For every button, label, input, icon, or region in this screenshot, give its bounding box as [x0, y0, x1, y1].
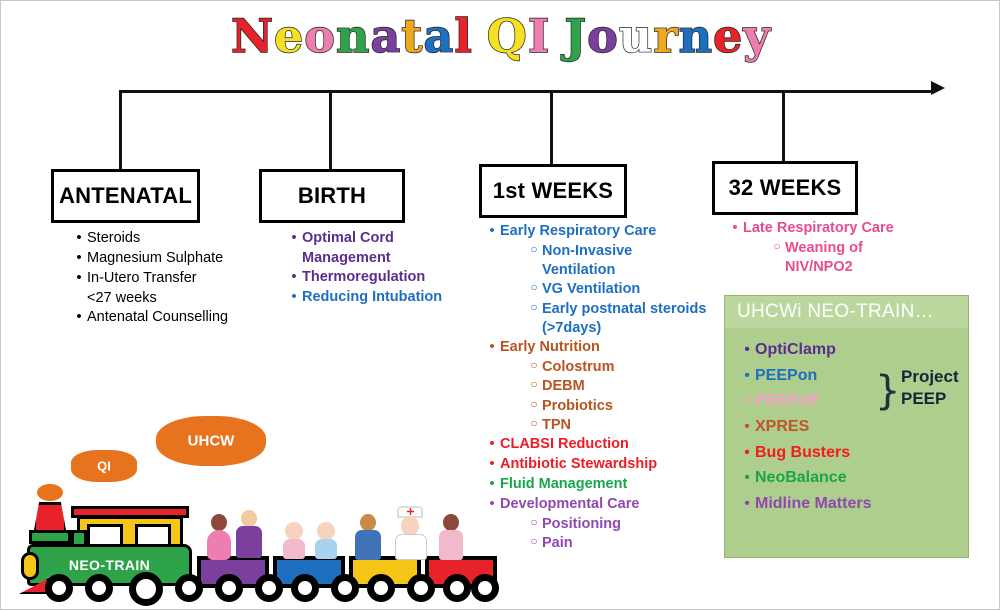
stage-label-first-weeks: 1st WEEKS: [493, 178, 613, 204]
list-item: ○Weaning of: [769, 239, 967, 257]
wheel-9: [367, 574, 395, 602]
list-item: •Fluid Management: [484, 475, 724, 494]
title-letter-17: e: [713, 9, 743, 63]
project-item[interactable]: •OptiClamp: [739, 340, 968, 360]
stage-box-32-weeks[interactable]: 32 WEEKS: [712, 161, 858, 215]
project-label: Bug Busters: [755, 443, 968, 463]
list-item: •Early Respiratory Care: [484, 222, 724, 241]
list-item: •In-Utero Transfer: [71, 269, 301, 288]
title-letter-18: y: [743, 9, 771, 63]
wheel-5: [215, 574, 243, 602]
smoke-puff-small: [37, 484, 63, 501]
smoke-label-qi: QI: [71, 459, 137, 474]
timeline-connector-32-weeks: [782, 90, 785, 161]
hollow-bullet-icon: ○: [526, 358, 542, 373]
timeline-connector-first-weeks: [550, 90, 553, 165]
project-peep-line2: PEEP: [901, 388, 959, 410]
project-peep-label: Project PEEP: [901, 366, 959, 410]
list-item-label: Pain: [542, 534, 724, 552]
list-item-label: Non-Invasive: [542, 242, 724, 260]
list-item: •Magnesium Sulphate: [71, 249, 301, 268]
bullet-icon: •: [739, 391, 755, 411]
stage-box-antenatal[interactable]: ANTENATAL: [51, 169, 200, 223]
list-item: Management: [286, 249, 471, 267]
hollow-bullet-icon: ○: [526, 534, 542, 549]
list-item-label: Weaning of: [785, 239, 967, 257]
list-item: ○Early postnatal steroids: [526, 300, 724, 318]
list-item-label: Fluid Management: [500, 475, 724, 493]
wheel-3: [129, 572, 163, 606]
passenger-nurse: [393, 506, 427, 558]
list-item: (>7days): [526, 319, 724, 337]
list-item-label: NIV/NPO2: [785, 258, 967, 276]
hollow-bullet-icon: ○: [526, 242, 542, 257]
bullet-icon: •: [739, 494, 755, 514]
passenger-baby-2: [313, 522, 339, 558]
title-letter-9: Q: [487, 9, 528, 63]
project-label: XPRES: [755, 417, 968, 437]
list-item-label: In-Utero Transfer: [87, 269, 301, 287]
list-item-label: Colostrum: [542, 358, 724, 376]
list-item: •CLABSI Reduction: [484, 435, 724, 454]
wheel-6: [255, 574, 283, 602]
title-letter-1: e: [274, 9, 304, 63]
list-item: •Antenatal Counselling: [71, 308, 301, 327]
list-item: •Early Nutrition: [484, 338, 724, 357]
list-item: •Antibiotic Stewardship: [484, 455, 724, 474]
wheel-1: [45, 574, 73, 602]
title-letter-5: t: [401, 9, 423, 63]
timeline-connector-antenatal: [119, 90, 122, 170]
list-item-label: (>7days): [542, 319, 724, 337]
list-item: ○TPN: [526, 416, 724, 434]
passenger-parent-with-baby: [353, 514, 383, 558]
list-item: •Optimal Cord: [286, 229, 471, 248]
page-title: Neonatal QI Journey: [1, 9, 1000, 63]
list-item-label: DEBM: [542, 377, 724, 395]
smoke-label-uhcw: UHCW: [156, 433, 266, 450]
title-letter-4: a: [370, 9, 401, 63]
wheel-11: [443, 574, 471, 602]
list-item-label: Developmental Care: [500, 495, 724, 513]
bullet-icon: •: [739, 443, 755, 463]
list-item-label: Early Respiratory Care: [500, 222, 724, 240]
title-letter-15: r: [653, 9, 678, 63]
project-item[interactable]: •NeoBalance: [739, 468, 968, 488]
neo-train-panel-title: UHCWi NEO-TRAIN…: [737, 301, 934, 323]
list-item: •Steroids: [71, 229, 301, 248]
list-item-label: Antibiotic Stewardship: [500, 455, 724, 473]
timeline-horizontal-line: [119, 90, 934, 93]
list-item: ○Non-Invasive: [526, 242, 724, 260]
infographic-canvas: Neonatal QI Journey ANTENATAL BIRTH 1st …: [0, 0, 1000, 610]
bullet-icon: •: [71, 308, 87, 327]
project-item[interactable]: •XPRES: [739, 417, 968, 437]
list-item: Ventilation: [526, 261, 724, 279]
list-item: ○Pain: [526, 534, 724, 552]
stage-label-birth: BIRTH: [298, 183, 366, 209]
neo-train-panel-header: UHCWi NEO-TRAIN…: [725, 296, 968, 328]
smoke-cloud-qi: QI: [71, 450, 137, 482]
list-item: ○Positioning: [526, 515, 724, 533]
stage-label-32-weeks: 32 WEEKS: [729, 175, 842, 201]
list-item-label: VG Ventilation: [542, 280, 724, 298]
wheel-10: [407, 574, 435, 602]
list-item: •Thermoregulation: [286, 268, 471, 287]
list-item-label: Optimal Cord: [302, 229, 471, 247]
list-item-label: <27 weeks: [87, 289, 301, 307]
wheel-12: [471, 574, 499, 602]
project-peep-line1: Project: [901, 366, 959, 388]
engine-chimney-base: [29, 530, 71, 544]
list-item-label: Positioning: [542, 515, 724, 533]
hollow-bullet-icon: ○: [526, 397, 542, 412]
title-letter-8: [473, 9, 487, 63]
title-letter-13: o: [587, 9, 619, 63]
timeline-arrow-icon: [931, 81, 945, 95]
stage-box-birth[interactable]: BIRTH: [259, 169, 405, 223]
list-item-label: Magnesium Sulphate: [87, 249, 301, 267]
neo-train-projects-panel: UHCWi NEO-TRAIN… •OptiClamp•PEEPon•PEEPo…: [724, 295, 969, 558]
title-letter-12: J: [564, 9, 587, 63]
hollow-bullet-icon: ○: [526, 377, 542, 392]
list-item: ○DEBM: [526, 377, 724, 395]
list-item: ○Probiotics: [526, 397, 724, 415]
engine-label: NEO-TRAIN: [69, 557, 150, 573]
wheel-2: [85, 574, 113, 602]
list-item-label: Thermoregulation: [302, 268, 471, 286]
list-32-weeks: •Late Respiratory Care○Weaning ofNIV/NPO…: [727, 219, 967, 277]
wheel-7: [291, 574, 319, 602]
project-label: OptiClamp: [755, 340, 968, 360]
bullet-icon: •: [739, 340, 755, 360]
list-item-label: Late Respiratory Care: [743, 219, 967, 237]
list-item-label: Probiotics: [542, 397, 724, 415]
bullet-icon: •: [286, 288, 302, 307]
hollow-bullet-icon: ○: [526, 300, 542, 315]
bullet-icon: •: [71, 249, 87, 268]
title-letter-0: N: [231, 9, 274, 63]
list-item-label: CLABSI Reduction: [500, 435, 724, 453]
passenger-baby-1: [281, 522, 307, 558]
list-birth: •Optimal CordManagement•Thermoregulation…: [286, 229, 471, 308]
title-letter-3: n: [336, 9, 370, 63]
list-item: <27 weeks: [71, 289, 301, 307]
title-letter-6: a: [424, 9, 455, 63]
smoke-cloud-uhcw: UHCW: [156, 416, 266, 466]
bullet-icon: •: [484, 338, 500, 357]
list-item-label: Reducing Intubation: [302, 288, 471, 306]
list-item: •Developmental Care: [484, 495, 724, 514]
hollow-bullet-icon: ○: [526, 515, 542, 530]
title-letter-2: o: [304, 9, 336, 63]
list-first-weeks: •Early Respiratory Care○Non-InvasiveVent…: [484, 222, 724, 553]
project-label: Midline Matters: [755, 494, 968, 514]
timeline-connector-birth: [329, 90, 332, 170]
list-item-label: TPN: [542, 416, 724, 434]
stage-box-first-weeks[interactable]: 1st WEEKS: [479, 164, 627, 218]
bullet-icon: •: [739, 468, 755, 488]
bullet-icon: •: [71, 269, 87, 288]
title-letter-16: n: [679, 9, 713, 63]
title-letter-7: l: [454, 9, 472, 63]
list-item: ○VG Ventilation: [526, 280, 724, 298]
hollow-bullet-icon: ○: [769, 239, 785, 254]
bullet-icon: •: [739, 366, 755, 386]
engine-headlamp: [21, 552, 39, 580]
title-letter-10: I: [528, 9, 551, 63]
list-item: •Late Respiratory Care: [727, 219, 967, 238]
brace-icon: }: [875, 369, 897, 413]
project-item[interactable]: •Bug Busters: [739, 443, 968, 463]
wheel-4: [175, 574, 203, 602]
list-item-label: Antenatal Counselling: [87, 308, 301, 326]
project-item[interactable]: •Midline Matters: [739, 494, 968, 514]
list-item: •Reducing Intubation: [286, 288, 471, 307]
hollow-bullet-icon: ○: [526, 416, 542, 431]
stage-label-antenatal: ANTENATAL: [59, 183, 192, 209]
bullet-icon: •: [286, 268, 302, 287]
list-item-label: Ventilation: [542, 261, 724, 279]
title-letter-14: u: [619, 9, 653, 63]
bullet-icon: •: [71, 229, 87, 248]
list-item: NIV/NPO2: [769, 258, 967, 276]
list-antenatal: •Steroids•Magnesium Sulphate•In-Utero Tr…: [71, 229, 301, 328]
project-label: NeoBalance: [755, 468, 968, 488]
passenger-mother-with-baby: [437, 514, 465, 558]
list-item: ○Colostrum: [526, 358, 724, 376]
list-item-label: Management: [302, 249, 471, 267]
bullet-icon: •: [484, 222, 500, 241]
neo-train-illustration: QI UHCW NEO-TRAIN: [19, 406, 489, 601]
wheel-8: [331, 574, 359, 602]
passenger-pregnant-woman: [205, 514, 233, 558]
bullet-icon: •: [739, 417, 755, 437]
bullet-icon: •: [286, 229, 302, 248]
list-item-label: Early Nutrition: [500, 338, 724, 356]
list-item-label: Early postnatal steroids: [542, 300, 724, 318]
list-item-label: Steroids: [87, 229, 301, 247]
passenger-man: [235, 510, 263, 558]
bullet-icon: •: [727, 219, 743, 238]
hollow-bullet-icon: ○: [526, 280, 542, 295]
title-letter-11: [550, 9, 564, 63]
